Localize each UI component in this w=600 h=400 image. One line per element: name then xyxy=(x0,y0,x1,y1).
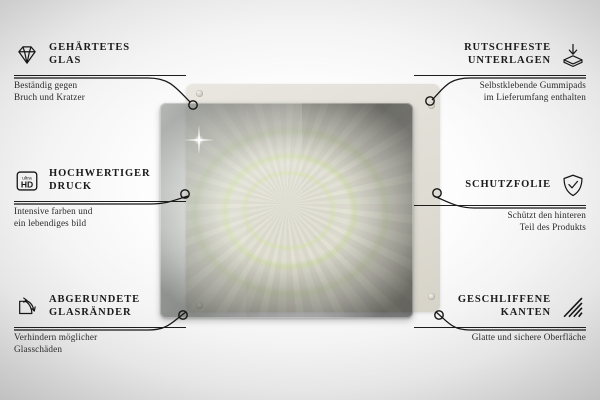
divider xyxy=(14,75,186,76)
feature-description-line2: Glasschäden xyxy=(14,344,186,356)
rubber-pad xyxy=(196,90,203,97)
feature-non-slip-pads: RUTSCHFESTE UNTERLAGEN Selbstklebende Gu… xyxy=(414,40,586,103)
feature-title: ABGERUNDETE xyxy=(49,294,140,307)
feature-description: Intensive farben und xyxy=(14,206,186,218)
feature-title: GEHÄRTETES xyxy=(49,42,130,55)
glass-board-surface xyxy=(160,103,413,318)
feature-title-line2: GLAS xyxy=(49,55,130,68)
feature-tempered-glass: GEHÄRTETES GLAS Beständig gegen Bruch un… xyxy=(14,40,186,103)
pad-stack-arrow-icon xyxy=(560,42,586,68)
hd-label: HD xyxy=(21,180,33,190)
feature-title-line2: GLASRÄNDER xyxy=(49,307,140,320)
divider xyxy=(414,327,586,328)
shield-check-icon xyxy=(560,172,586,198)
feature-description: Beständig gegen xyxy=(14,80,186,92)
feature-description: Schützt den hinteren xyxy=(414,210,586,222)
feature-high-quality-print: ultra HD HOCHWERTIGER DRUCK Intensive fa… xyxy=(14,166,186,229)
sparkle-icon xyxy=(184,125,214,155)
feature-title-line2: UNTERLAGEN xyxy=(464,55,551,68)
feature-description: Glatte und sichere Oberfläche xyxy=(414,332,586,344)
divider xyxy=(414,75,586,76)
feature-title: RUTSCHFESTE xyxy=(464,42,551,55)
feature-ground-edges: GESCHLIFFENE KANTEN Glatte und sichere O… xyxy=(414,292,586,344)
feature-title: HOCHWERTIGER xyxy=(49,168,150,181)
feature-description: Verhindern möglicher xyxy=(14,332,186,344)
feature-title: GESCHLIFFENE xyxy=(458,294,551,307)
feature-description: Selbstklebende Gummipads xyxy=(414,80,586,92)
divider xyxy=(414,205,586,206)
divider xyxy=(14,201,186,202)
feature-title-line2: KANTEN xyxy=(458,307,551,320)
feature-title-line2: DRUCK xyxy=(49,181,150,194)
feature-description-line2: Bruch und Kratzer xyxy=(14,92,186,104)
ultra-hd-badge-icon: ultra HD xyxy=(14,168,40,194)
feature-description-line2: im Lieferumfang enthalten xyxy=(414,92,586,104)
feature-title: SCHUTZFOLIE xyxy=(465,179,551,192)
diamond-icon xyxy=(14,42,40,68)
product-image xyxy=(160,84,442,324)
diagonal-hatch-icon xyxy=(560,294,586,320)
rounded-corner-icon xyxy=(14,294,40,320)
divider xyxy=(14,327,186,328)
feature-description-line2: Teil des Produkts xyxy=(414,222,586,234)
feature-rounded-glass-edges: ABGERUNDETE GLASRÄNDER Verhindern möglic… xyxy=(14,292,186,355)
feature-protective-foil: SCHUTZFOLIE Schützt den hinteren Teil de… xyxy=(414,170,586,233)
infographic-canvas: GEHÄRTETES GLAS Beständig gegen Bruch un… xyxy=(0,0,600,400)
feature-description-line2: ein lebendiges bild xyxy=(14,218,186,230)
